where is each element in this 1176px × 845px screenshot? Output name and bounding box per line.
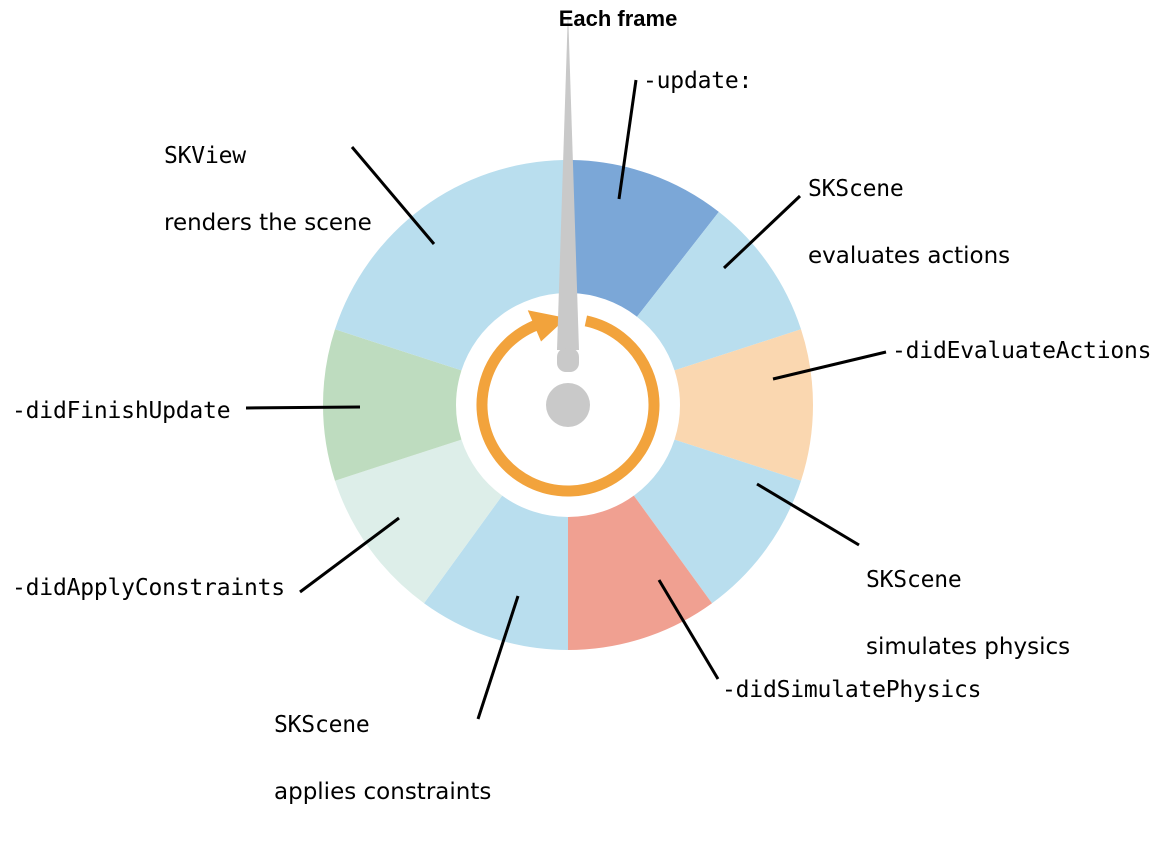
label-renders-scene: SKView renders the scene bbox=[164, 103, 372, 276]
label-did-evaluate-actions: -didEvaluateActions bbox=[892, 337, 1151, 365]
label-applies-constraints: SKScene applies constraints bbox=[274, 672, 491, 845]
label-simulates-physics: SKScene simulates physics bbox=[866, 527, 1070, 700]
label-applies-constraints-code: SKScene bbox=[274, 711, 491, 739]
label-update: -update: bbox=[643, 67, 752, 95]
clock-hub bbox=[546, 383, 590, 427]
diagram-canvas: Each frame -update: SKScene evaluates ac… bbox=[0, 0, 1176, 744]
label-evaluates-actions: SKScene evaluates actions bbox=[808, 136, 1010, 309]
label-simulates-physics-code: SKScene bbox=[866, 566, 1070, 594]
clock-hand-base bbox=[557, 348, 579, 372]
leader-did-finish-update bbox=[246, 407, 360, 408]
label-renders-scene-code: SKView bbox=[164, 142, 372, 170]
label-evaluates-actions-text: evaluates actions bbox=[808, 242, 1010, 270]
label-evaluates-actions-code: SKScene bbox=[808, 175, 1010, 203]
label-renders-scene-text: renders the scene bbox=[164, 209, 372, 237]
label-did-apply-constraints: -didApplyConstraints bbox=[12, 574, 285, 602]
figure-title: Each frame bbox=[528, 6, 708, 33]
label-applies-constraints-text: applies constraints bbox=[274, 778, 491, 806]
label-did-finish-update: -didFinishUpdate bbox=[12, 397, 230, 425]
label-did-simulate-physics: -didSimulatePhysics bbox=[722, 676, 981, 704]
label-simulates-physics-text: simulates physics bbox=[866, 633, 1070, 661]
